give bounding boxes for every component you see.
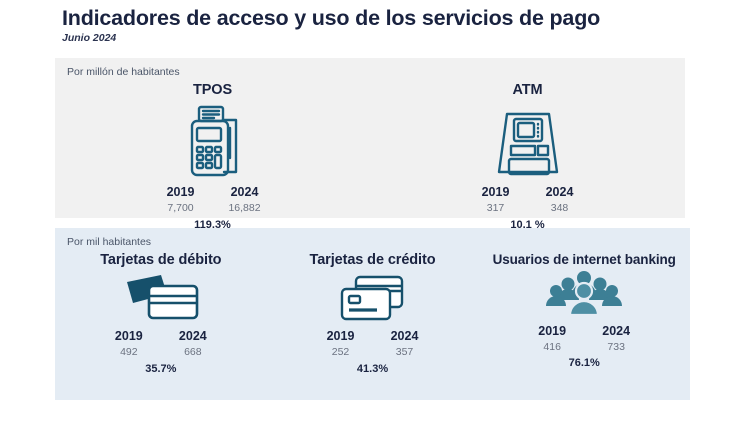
metrics-row-per-million: TPOS xyxy=(55,58,685,242)
year-col-2019-tpos: 2019 7,700 xyxy=(159,185,203,215)
panel-per-million: Por millón de habitantes TPOS xyxy=(55,58,685,218)
year-label: 2024 xyxy=(391,329,419,345)
page-title: Indicadores de acceso y uso de los servi… xyxy=(62,6,702,30)
year-col-2019-internet: 2019 416 xyxy=(530,324,574,354)
debit-cards-icon xyxy=(109,272,213,324)
year-col-2024-debit: 2024 668 xyxy=(171,329,215,359)
metric-credit-cards: Tarjetas de crédito xyxy=(267,252,479,375)
metric-debit-cards: Tarjetas de débito xyxy=(55,252,267,375)
atm-machine-icon xyxy=(489,102,567,180)
year-label: 2024 xyxy=(179,329,207,345)
metric-internet-banking: Usuarios de internet banking xyxy=(478,252,690,369)
year-value: 416 xyxy=(543,341,561,355)
metric-title-credit-cards: Tarjetas de crédito xyxy=(310,252,436,268)
metric-title-debit-cards: Tarjetas de débito xyxy=(100,252,221,268)
year-label: 2024 xyxy=(602,324,630,340)
years-atm: 2019 317 2024 348 xyxy=(474,185,582,215)
growth-credit-cards: 41.3% xyxy=(357,363,388,375)
metrics-row-per-thousand: Tarjetas de débito xyxy=(55,228,690,424)
year-label: 2024 xyxy=(546,185,574,201)
infographic-root: Indicadores de acceso y uso de los servi… xyxy=(0,0,750,410)
year-value: 668 xyxy=(184,346,202,360)
credit-cards-icon xyxy=(330,272,416,324)
year-col-2024-internet: 2024 733 xyxy=(594,324,638,354)
year-label: 2019 xyxy=(327,329,355,345)
year-value: 357 xyxy=(396,346,414,360)
year-value: 348 xyxy=(551,202,569,216)
year-value: 252 xyxy=(332,346,350,360)
year-col-2024-tpos: 2024 16,882 xyxy=(223,185,267,215)
years-debit-cards: 2019 492 2024 668 xyxy=(107,329,215,359)
year-value: 733 xyxy=(607,341,625,355)
metric-title-atm: ATM xyxy=(512,82,542,98)
years-credit-cards: 2019 252 2024 357 xyxy=(319,329,427,359)
year-col-2024-atm: 2024 348 xyxy=(538,185,582,215)
metric-title-internet-banking: Usuarios de internet banking xyxy=(493,252,676,267)
year-col-2024-credit: 2024 357 xyxy=(383,329,427,359)
year-col-2019-atm: 2019 317 xyxy=(474,185,518,215)
year-col-2019-debit: 2019 492 xyxy=(107,329,151,359)
year-label: 2019 xyxy=(167,185,195,201)
metric-title-tpos: TPOS xyxy=(193,82,232,98)
years-tpos: 2019 7,700 2024 16,882 xyxy=(159,185,267,215)
panel-per-thousand: Por mil habitantes Tarjetas de débito xyxy=(55,228,690,400)
growth-internet-banking: 76.1% xyxy=(569,357,600,369)
year-value: 7,700 xyxy=(167,202,193,216)
years-internet-banking: 2019 416 2024 733 xyxy=(530,324,638,354)
year-label: 2019 xyxy=(482,185,510,201)
pos-terminal-icon xyxy=(178,102,248,180)
year-value: 317 xyxy=(487,202,505,216)
metric-tpos: TPOS xyxy=(55,82,370,231)
year-col-2019-credit: 2019 252 xyxy=(319,329,363,359)
group-of-people-icon xyxy=(542,271,626,319)
header: Indicadores de acceso y uso de los servi… xyxy=(62,6,702,44)
growth-debit-cards: 35.7% xyxy=(145,363,176,375)
year-value: 492 xyxy=(120,346,138,360)
year-label: 2024 xyxy=(231,185,259,201)
metric-atm: ATM xyxy=(370,82,685,231)
year-label: 2019 xyxy=(538,324,566,340)
year-label: 2019 xyxy=(115,329,143,345)
year-value: 16,882 xyxy=(228,202,260,216)
page-subtitle: Junio 2024 xyxy=(62,32,702,44)
